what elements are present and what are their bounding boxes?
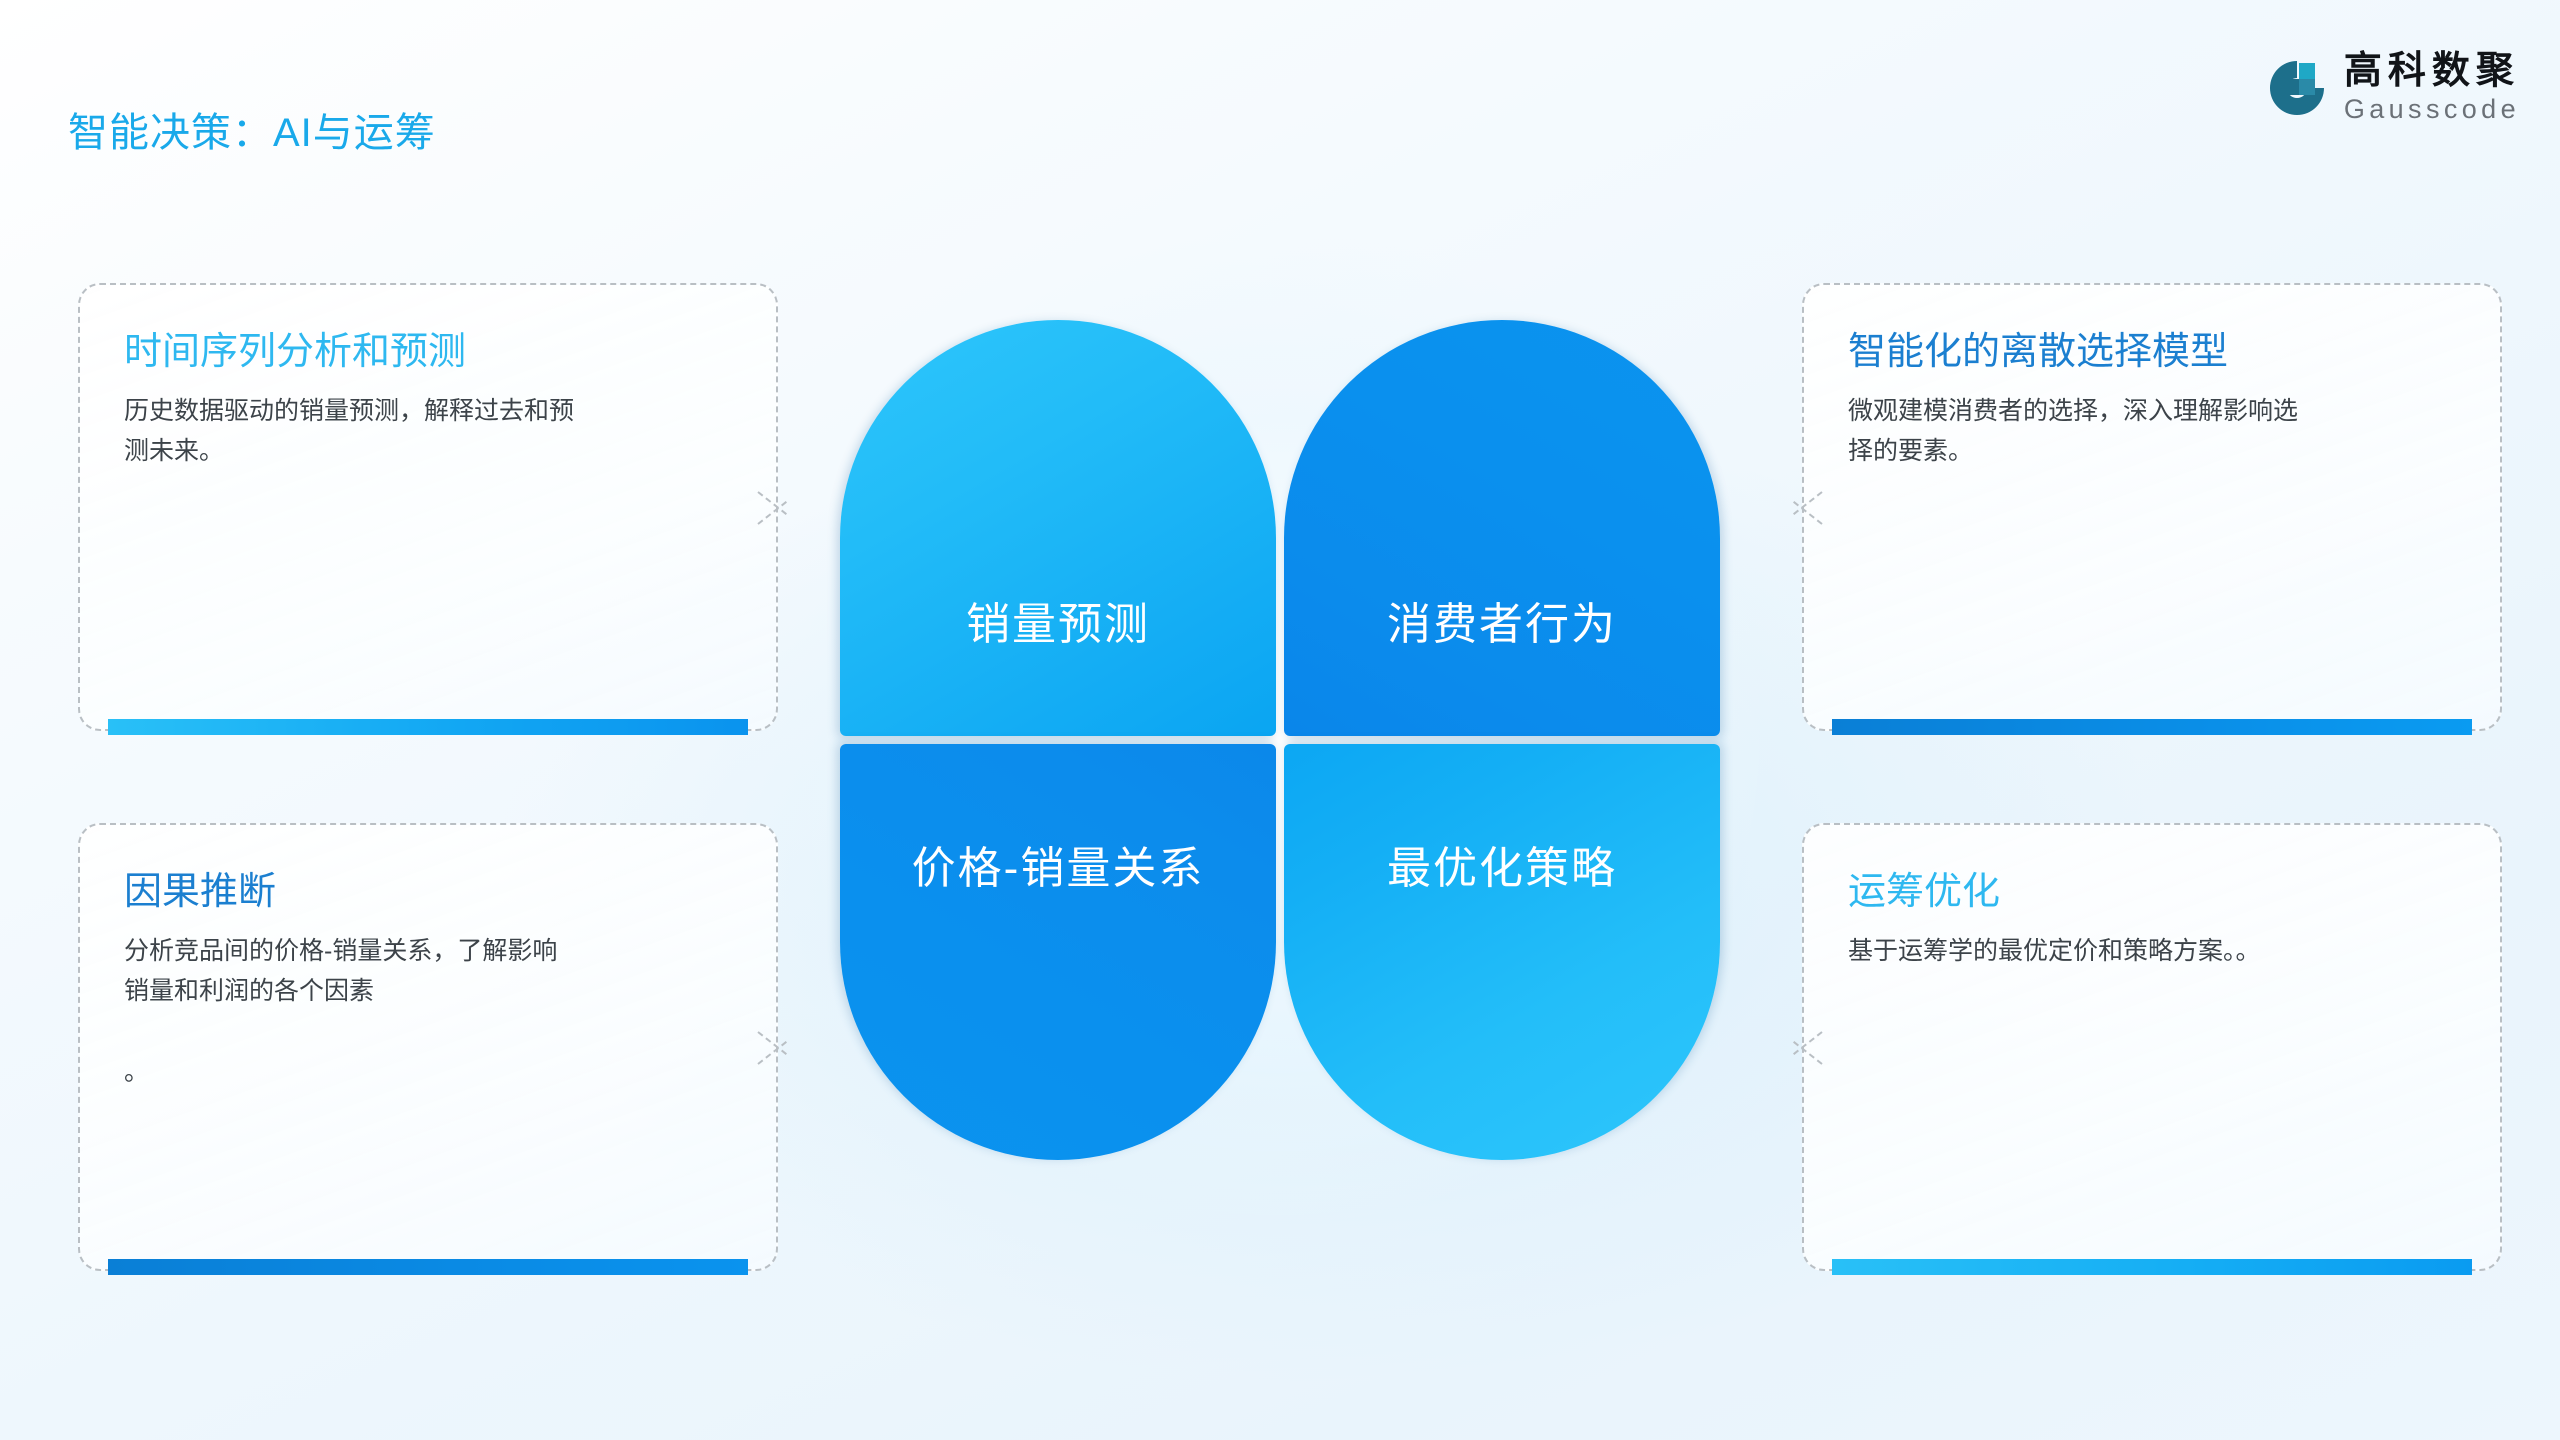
info-card-causal-inference[interactable]: 因果推断 分析竞品间的价格-销量关系，了解影响 销量和利润的各个因素 。 (78, 823, 778, 1271)
petal-label: 价格-销量关系 (912, 832, 1205, 896)
info-card-discrete-choice[interactable]: 智能化的离散选择模型 微观建模消费者的选择，深入理解影响选 择的要素。 (1802, 283, 2502, 731)
chevron-left-icon (1772, 478, 1830, 536)
petal-optimal-strategy[interactable]: 最优化策略 (1284, 744, 1720, 1160)
chevron-right-icon (750, 1018, 808, 1076)
card-title: 运筹优化 (1848, 869, 2456, 917)
petal-sales-forecast[interactable]: 销量预测 (840, 320, 1276, 736)
info-card-time-series[interactable]: 时间序列分析和预测 历史数据驱动的销量预测，解释过去和预 测未来。 (78, 283, 778, 731)
card-title: 智能化的离散选择模型 (1848, 329, 2456, 377)
card-content: 时间序列分析和预测 历史数据驱动的销量预测，解释过去和预 测未来。 (80, 285, 776, 472)
petal-label: 销量预测 (966, 588, 1150, 652)
card-body: 微观建模消费者的选择，深入理解影响选 择的要素。 (1848, 391, 2456, 472)
card-content: 智能化的离散选择模型 微观建模消费者的选择，深入理解影响选 择的要素。 (1804, 285, 2500, 472)
info-card-operations-research[interactable]: 运筹优化 基于运筹学的最优定价和策略方案。。 (1802, 823, 2502, 1271)
card-body: 历史数据驱动的销量预测，解释过去和预 测未来。 (124, 391, 732, 472)
brand-logo: 高科数聚 Gausscode (2266, 52, 2520, 125)
card-title: 因果推断 (124, 869, 732, 917)
card-title: 时间序列分析和预测 (124, 329, 732, 377)
logo-text-block: 高科数聚 Gausscode (2344, 52, 2520, 125)
card-accent-bar (108, 719, 748, 735)
petal-label: 最优化策略 (1387, 832, 1617, 896)
card-accent-bar (108, 1259, 748, 1275)
card-content: 运筹优化 基于运筹学的最优定价和策略方案。。 (1804, 825, 2500, 971)
logo-name-en: Gausscode (2344, 94, 2520, 125)
chevron-left-icon (1772, 1018, 1830, 1076)
card-accent-bar (1832, 719, 2472, 735)
petal-diagram: 销量预测 消费者行为 价格-销量关系 最优化策略 (840, 320, 1720, 1160)
card-content: 因果推断 分析竞品间的价格-销量关系，了解影响 销量和利润的各个因素 。 (80, 825, 776, 1093)
chevron-right-icon (750, 478, 808, 536)
gausscode-logo-icon (2266, 57, 2328, 119)
slide-root: 智能决策：AI与运筹 高科数聚 Gausscode 时间序列分析和预测 历史数据… (0, 0, 2560, 1440)
petal-consumer-behavior[interactable]: 消费者行为 (1284, 320, 1720, 736)
petal-price-sales-relation[interactable]: 价格-销量关系 (840, 744, 1276, 1160)
card-body: 基于运筹学的最优定价和策略方案。。 (1848, 931, 2456, 972)
page-title: 智能决策：AI与运筹 (68, 100, 436, 158)
logo-name-cn: 高科数聚 (2344, 52, 2520, 92)
card-accent-bar (1832, 1259, 2472, 1275)
card-body: 分析竞品间的价格-销量关系，了解影响 销量和利润的各个因素 。 (124, 931, 732, 1093)
petal-label: 消费者行为 (1387, 588, 1617, 652)
